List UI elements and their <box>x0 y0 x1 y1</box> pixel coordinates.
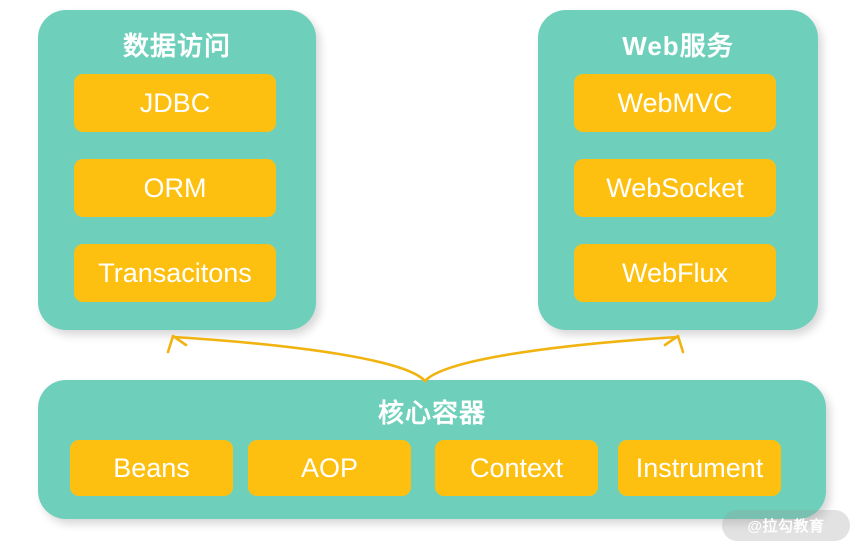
arrowhead-web-service <box>665 336 683 352</box>
panel-web-service-title: Web服务 <box>538 31 818 61</box>
diagram-canvas: 数据访问 JDBC ORM Transacitons Web服务 WebMVC … <box>0 0 863 547</box>
chip-webflux[interactable]: WebFlux <box>574 244 776 302</box>
connector-to-web-service <box>425 337 677 381</box>
watermark: @拉勾教育 <box>722 510 850 541</box>
chip-websocket[interactable]: WebSocket <box>574 159 776 217</box>
arrowhead-data-access <box>168 336 186 352</box>
panel-core-container-title: 核心容器 <box>38 398 826 428</box>
chip-webmvc[interactable]: WebMVC <box>574 74 776 132</box>
connector-to-data-access <box>174 337 425 381</box>
chip-jdbc[interactable]: JDBC <box>74 74 276 132</box>
chip-beans[interactable]: Beans <box>70 440 233 496</box>
chip-context[interactable]: Context <box>435 440 598 496</box>
panel-web-service: Web服务 WebMVC WebSocket WebFlux <box>538 10 818 330</box>
chip-transacitons[interactable]: Transacitons <box>74 244 276 302</box>
panel-core-container: 核心容器 Beans AOP Context Instrument <box>38 380 826 519</box>
panel-data-access-title: 数据访问 <box>38 31 316 61</box>
chip-instrument[interactable]: Instrument <box>618 440 781 496</box>
panel-data-access: 数据访问 JDBC ORM Transacitons <box>38 10 316 330</box>
chip-orm[interactable]: ORM <box>74 159 276 217</box>
chip-aop[interactable]: AOP <box>248 440 411 496</box>
